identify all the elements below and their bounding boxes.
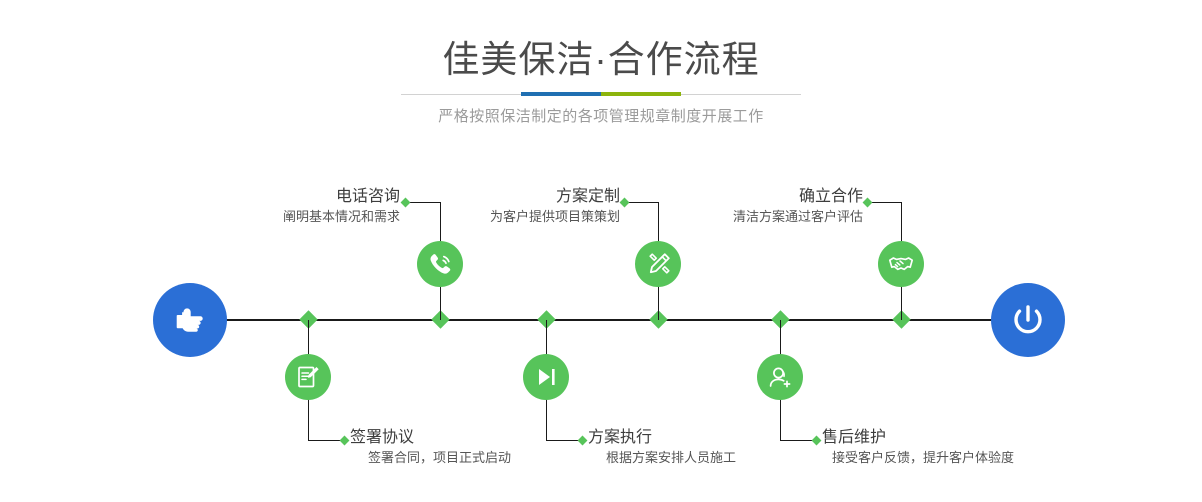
page-subtitle: 严格按照保洁制定的各项管理规章制度开展工作 <box>0 106 1202 128</box>
stage-icon-pencil-ruler <box>635 241 681 287</box>
stage-description: 清洁方案通过客户评估 <box>625 207 863 227</box>
title-divider-green-segment <box>601 92 681 96</box>
stage-description: 签署合同，项目正式启动 <box>350 448 511 468</box>
connector-tip-marker <box>340 436 350 446</box>
power-icon <box>1006 298 1050 342</box>
connector-tip-marker <box>863 198 873 208</box>
stage-icon-handshake <box>878 241 924 287</box>
stage-icon-headset-support <box>757 354 803 400</box>
play-forward-icon <box>533 364 559 390</box>
stage-label-bottom: 售后维护 接受客户反馈，提升客户体验度 <box>822 427 1014 468</box>
stage-icon-play-forward <box>523 354 569 400</box>
page-title: 佳美保洁·合作流程 <box>0 38 1202 82</box>
connector-tip-marker <box>812 436 822 446</box>
headset-support-icon <box>767 364 793 390</box>
connector-horizontal <box>868 202 902 203</box>
stage-label-bottom: 签署协议 签署合同，项目正式启动 <box>350 427 511 468</box>
process-flow-infographic: 佳美保洁·合作流程 严格按照保洁制定的各项管理规章制度开展工作 <box>0 0 1202 502</box>
handshake-icon <box>887 250 915 278</box>
stage-icon-phone-call <box>417 241 463 287</box>
flow-end-marker <box>991 283 1065 357</box>
stage-description: 阐明基本情况和需求 <box>155 207 400 227</box>
stage-title: 电话咨询 <box>155 186 400 207</box>
document-sign-icon <box>295 364 321 390</box>
thumb-pointing-hand-icon <box>170 300 210 340</box>
pencil-ruler-icon <box>645 251 672 278</box>
stage-description: 为客户提供项目策策划 <box>380 207 620 227</box>
flow-start-marker <box>153 283 227 357</box>
stage-title: 售后维护 <box>822 427 1014 448</box>
stage-title: 签署协议 <box>350 427 511 448</box>
stage-title: 方案定制 <box>380 186 620 207</box>
title-divider-blue-segment <box>521 92 601 96</box>
connector-tip-marker <box>578 436 588 446</box>
stage-title: 确立合作 <box>625 186 863 207</box>
stage-label-top: 确立合作 清洁方案通过客户评估 <box>625 186 863 227</box>
stage-description: 接受客户反馈，提升客户体验度 <box>822 448 1014 468</box>
stage-description: 根据方案安排人员施工 <box>588 448 736 468</box>
header: 佳美保洁·合作流程 严格按照保洁制定的各项管理规章制度开展工作 <box>0 0 1202 150</box>
stage-label-top: 电话咨询 阐明基本情况和需求 <box>155 186 400 227</box>
phone-call-icon <box>426 250 454 278</box>
stage-label-bottom: 方案执行 根据方案安排人员施工 <box>588 427 736 468</box>
stage-icon-document-sign <box>285 354 331 400</box>
stage-title: 方案执行 <box>588 427 736 448</box>
stage-label-top: 方案定制 为客户提供项目策策划 <box>380 186 620 227</box>
